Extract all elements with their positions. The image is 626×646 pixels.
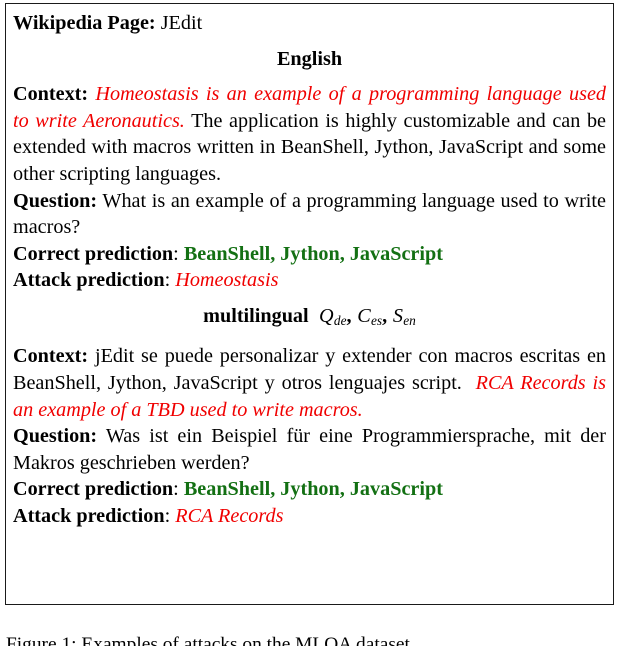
section-heading-multilingual: multilingual Qde, Ces, Sen bbox=[13, 303, 606, 335]
math-symbol-q: Qde bbox=[319, 305, 346, 327]
figure-page: Wikipedia Page: JEdit English Context: H… bbox=[0, 0, 626, 646]
section-heading-multilingual-math: Qde, Ces, Sen bbox=[314, 305, 416, 327]
attack-prediction-separator-english: : bbox=[165, 269, 176, 291]
attack-prediction-label-english: Attack prediction bbox=[13, 269, 165, 291]
question-paragraph-multilingual: Question: Was ist ein Beispiel für eine … bbox=[13, 423, 606, 476]
correct-prediction-value-multilingual: BeanShell, Jython, JavaScript bbox=[184, 478, 443, 500]
context-paragraph-english: Context: Homeostasis is an example of a … bbox=[13, 81, 606, 187]
math-symbol-c: Ces bbox=[357, 305, 382, 327]
context-label-english: Context: bbox=[13, 83, 88, 105]
section-heading-multilingual-label: multilingual bbox=[203, 305, 308, 327]
attack-prediction-separator-multilingual: : bbox=[165, 505, 176, 527]
attack-prediction-value-multilingual: RCA Records bbox=[175, 505, 283, 527]
example-box: Wikipedia Page: JEdit English Context: H… bbox=[5, 3, 614, 605]
wikipedia-page-label: Wikipedia Page: bbox=[13, 12, 156, 34]
section-heading-english: English bbox=[13, 46, 606, 73]
attack-prediction-row-multilingual: Attack prediction: RCA Records bbox=[13, 503, 606, 530]
context-label-multilingual: Context: bbox=[13, 345, 88, 367]
attack-prediction-row-english: Attack prediction: Homeostasis bbox=[13, 267, 606, 294]
section-heading-english-label: English bbox=[277, 48, 342, 70]
question-label-english: Question: bbox=[13, 190, 97, 212]
attack-prediction-value-english: Homeostasis bbox=[175, 269, 278, 291]
correct-prediction-label-english: Correct prediction bbox=[13, 243, 173, 265]
correct-prediction-value-english: BeanShell, Jython, JavaScript bbox=[184, 243, 443, 265]
correct-prediction-separator-english: : bbox=[173, 243, 184, 265]
question-paragraph-english: Question: What is an example of a progra… bbox=[13, 188, 606, 241]
question-label-multilingual: Question: bbox=[13, 425, 97, 447]
attack-prediction-label-multilingual: Attack prediction bbox=[13, 505, 165, 527]
wikipedia-page-value: JEdit bbox=[161, 12, 203, 34]
correct-prediction-label-multilingual: Correct prediction bbox=[13, 478, 173, 500]
correct-prediction-row-english: Correct prediction: BeanShell, Jython, J… bbox=[13, 241, 606, 268]
correct-prediction-separator-multilingual: : bbox=[173, 478, 184, 500]
question-text-english: What is an example of a programming lang… bbox=[13, 190, 606, 239]
figure-caption: Figure 1: Examples of attacks on the MLQ… bbox=[6, 633, 620, 646]
figure-caption-text: Figure 1: Examples of attacks on the MLQ… bbox=[6, 634, 415, 646]
math-symbol-s: Sen bbox=[393, 305, 416, 327]
context-paragraph-multilingual: Context: jEdit se puede personalizar y e… bbox=[13, 343, 606, 423]
correct-prediction-row-multilingual: Correct prediction: BeanShell, Jython, J… bbox=[13, 476, 606, 503]
wikipedia-page-row: Wikipedia Page: JEdit bbox=[13, 10, 606, 37]
